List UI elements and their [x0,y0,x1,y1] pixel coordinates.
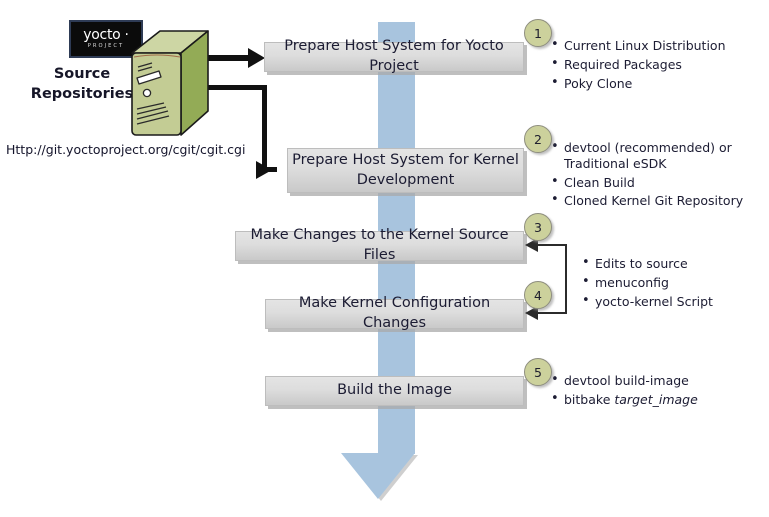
bullet-list-step1: Current Linux Distribution Required Pack… [551,38,761,94]
workflow-diagram: yocto · PROJECT Source Repositories Http… [0,0,769,517]
list-item: Clean Build [551,175,766,191]
list-item-label: bitbake target_image [564,392,698,407]
step-number-1: 1 [524,19,552,47]
source-repositories-url: Http://git.yoctoproject.org/cgit/cgit.cg… [6,142,245,157]
list-item: Current Linux Distribution [551,38,761,54]
bracket-connector-top-segment [537,244,567,246]
list-item: Required Packages [551,57,761,73]
bracket-connector-bottom-segment [537,312,567,314]
connector-server-to-step2-segment-horizontal [205,85,267,90]
step-number-4: 4 [524,281,552,309]
connector-server-to-step2-segment-vertical [262,85,267,170]
list-item: Edits to source [582,256,762,272]
step-number-3: 3 [524,213,552,241]
list-item: devtool (recommended) or Traditional eSD… [551,140,766,172]
step-number-5: 5 [524,358,552,386]
process-box-step3[interactable]: Make Changes to the Kernel Source Files [235,231,524,261]
list-item: menuconfig [582,275,762,291]
process-box-step5[interactable]: Build the Image [265,376,524,406]
connector-server-to-step1-arrowhead-icon [248,48,265,68]
process-box-step1[interactable]: Prepare Host System for Yocto Project [264,42,524,72]
server-tower-icon [128,27,212,141]
process-box-step2[interactable]: Prepare Host System for Kernel Developme… [287,148,524,193]
list-item: devtool build-image [551,373,756,389]
list-item: Poky Clone [551,76,761,92]
process-box-step4[interactable]: Make Kernel Configuration Changes [265,299,524,329]
yocto-logo-subtext: PROJECT [88,44,124,49]
flow-arrow-head [341,453,415,499]
step-number-2: 2 [524,125,552,153]
list-item: Cloned Kernel Git Repository [551,193,766,209]
list-item: yocto-kernel Script [582,294,762,310]
bullet-list-step5: devtool build-image bitbake target_image [551,373,756,411]
list-item-italic-term: bitbake target_image [551,392,756,408]
connector-server-to-step2-arrowhead-icon [256,161,272,179]
bullet-list-steps-3-and-4: Edits to source menuconfig yocto-kernel … [582,256,762,312]
yocto-logo-wordmark: yocto · [83,28,128,42]
bracket-connector-vertical-segment [565,244,567,313]
source-repositories-label: Source Repositories [28,64,136,105]
bullet-list-step2: devtool (recommended) or Traditional eSD… [551,140,766,212]
